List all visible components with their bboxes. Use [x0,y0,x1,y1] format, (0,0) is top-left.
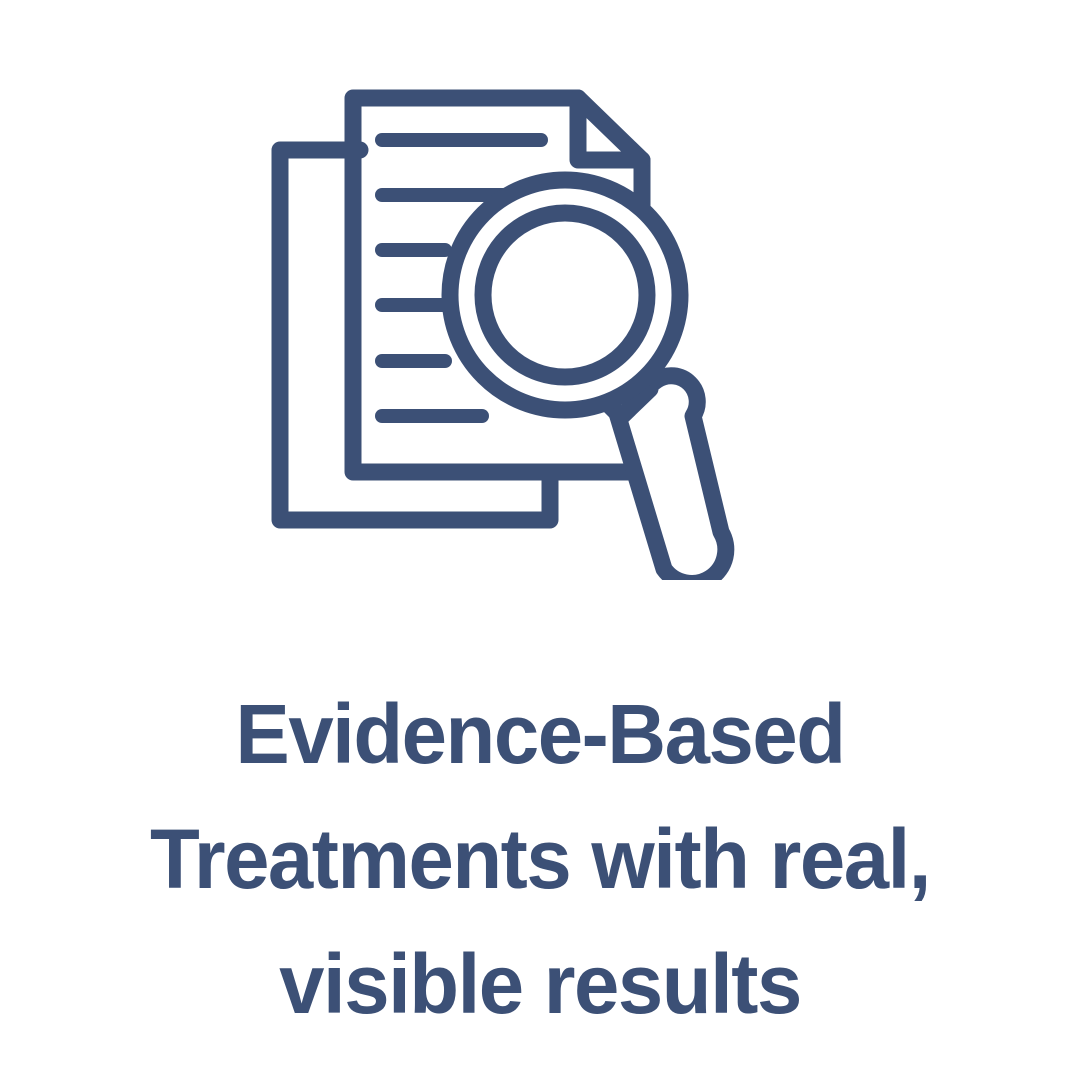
headline-line-3: visible results [39,922,1040,1047]
magnifier-inner-ring [483,213,647,377]
feature-card: Evidence-Based Treatments with real, vis… [0,0,1080,1080]
document-search-svg [260,80,820,580]
document-search-icon [0,0,1080,660]
headline-line-2: Treatments with real, [39,797,1040,922]
headline-line-1: Evidence-Based [39,672,1040,797]
headline: Evidence-Based Treatments with real, vis… [0,672,1080,1047]
